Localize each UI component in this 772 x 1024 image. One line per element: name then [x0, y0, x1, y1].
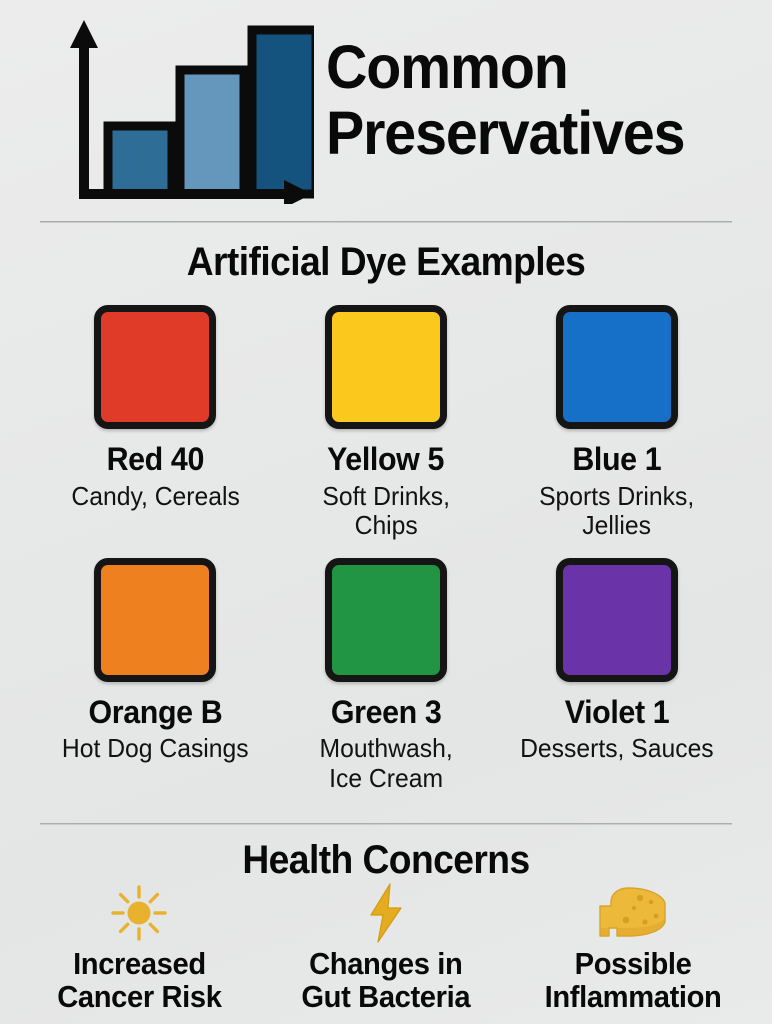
title-line-1: Common	[326, 38, 730, 97]
health-label: Possible Inflammation	[544, 948, 721, 1014]
dye-name: Orange B	[88, 696, 222, 729]
dye-name: Yellow 5	[328, 443, 445, 476]
title-line-2: Preservatives	[326, 104, 730, 163]
health-card-cancer-risk[interactable]: Increased Cancer Risk	[16, 882, 263, 1014]
health-card-gut-bacteria[interactable]: Changes in Gut Bacteria	[263, 882, 510, 1014]
color-swatch	[94, 558, 216, 682]
health-label: Changes in Gut Bacteria	[302, 948, 471, 1014]
cheese-icon	[596, 882, 670, 944]
dye-uses: Desserts, Sauces	[520, 734, 714, 763]
health-section-heading: Health Concerns	[27, 838, 745, 883]
dye-grid: Red 40 Candy, Cereals Yellow 5 Soft Drin…	[40, 305, 732, 793]
dye-uses: Soft Drinks, Chips	[322, 482, 450, 540]
color-swatch	[325, 558, 447, 682]
dye-card-orange-b[interactable]: Orange B Hot Dog Casings	[40, 558, 271, 793]
dye-card-red-40[interactable]: Red 40 Candy, Cereals	[40, 305, 271, 540]
dye-uses: Hot Dog Casings	[62, 734, 249, 763]
dye-card-green-3[interactable]: Green 3 Mouthwash, Ice Cream	[271, 558, 502, 793]
dye-card-violet-1[interactable]: Violet 1 Desserts, Sauces	[501, 558, 732, 793]
dye-uses: Sports Drinks, Jellies	[539, 482, 694, 540]
bar-chart-icon	[62, 18, 314, 204]
health-label: Increased Cancer Risk	[57, 948, 221, 1014]
infographic-page: Common Preservatives Artificial Dye Exam…	[0, 0, 772, 1024]
health-card-inflammation[interactable]: Possible Inflammation	[509, 882, 756, 1014]
color-swatch	[325, 305, 447, 429]
dye-name: Violet 1	[564, 696, 669, 729]
dye-card-blue-1[interactable]: Blue 1 Sports Drinks, Jellies	[501, 305, 732, 540]
page-title: Common Preservatives	[326, 38, 756, 162]
dye-name: Red 40	[107, 443, 204, 476]
dye-card-yellow-5[interactable]: Yellow 5 Soft Drinks, Chips	[271, 305, 502, 540]
divider-top	[40, 221, 732, 223]
lightning-icon	[365, 882, 407, 944]
color-swatch	[556, 558, 678, 682]
dye-name: Green 3	[331, 696, 442, 729]
dye-section-heading: Artificial Dye Examples	[27, 240, 745, 285]
divider-bottom	[40, 823, 732, 825]
header: Common Preservatives	[0, 0, 772, 212]
sun-icon	[109, 882, 169, 944]
dye-uses: Mouthwash, Ice Cream	[319, 734, 452, 792]
color-swatch	[556, 305, 678, 429]
health-grid: Increased Cancer Risk Changes in Gut Bac…	[16, 882, 756, 1014]
dye-uses: Candy, Cereals	[71, 482, 239, 511]
color-swatch	[94, 305, 216, 429]
dye-name: Blue 1	[572, 443, 661, 476]
